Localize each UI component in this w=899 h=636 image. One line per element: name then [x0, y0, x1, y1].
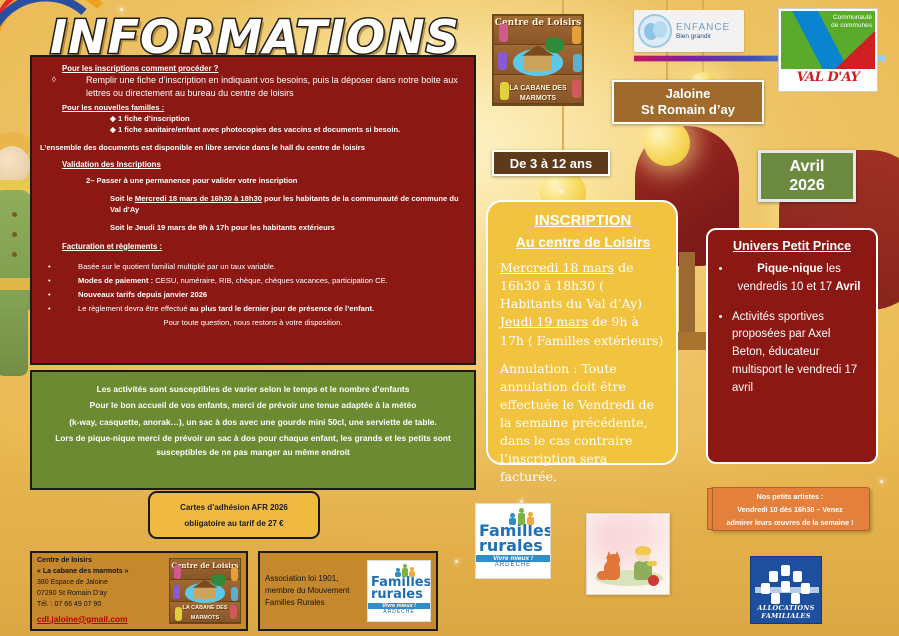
footer-contact-box: Centre de loisirs « La cabane des marmot…	[30, 551, 248, 631]
info-bullet-3: •Nouveaux tarifs depuis janvier 2026	[40, 289, 466, 300]
green-info-panel: Les activités sont susceptibles de varie…	[30, 370, 476, 490]
little-prince-illustration	[586, 513, 670, 595]
info-heading-1: Pour les inscriptions comment procéder ?	[62, 63, 466, 74]
allocations-familiales-logo: ALLOCATIONS FAMILIALES	[750, 556, 822, 624]
location-line-2: St Romain d’ay	[641, 102, 735, 118]
valday-line-2: de communes	[831, 22, 872, 30]
info-bullet-2-bold: Modes de paiement :	[78, 276, 153, 285]
info-bullet-1-text: Basée sur le quotient familial multiplié…	[78, 261, 276, 272]
footer-email-link[interactable]: cdl.jaloine@gmail.com	[37, 613, 169, 626]
adhesion-line-1: Cartes d’adhésion AFR 2026	[150, 503, 318, 512]
valday-line-1: Communauté	[831, 14, 872, 22]
green-line-3: (k-way, casquette, anorak…), un sac à do…	[48, 416, 458, 429]
info-step-2: 2– Passer à une permanence pour valider …	[86, 175, 466, 186]
info-bullet-4-bold: au plus tard le dernier jour de présence…	[190, 304, 374, 313]
footer-city: 07290 St Romain D’ay	[37, 589, 169, 600]
univers-petit-prince-panel: Univers Petit Prince Pique-nique les ven…	[706, 228, 878, 464]
adhesion-card-box: Cartes d’adhésion AFR 2026 obligatoire a…	[148, 491, 320, 539]
valday-logo: Communauté de communes VAL D'AY	[778, 8, 878, 92]
enfance-subtitle: Bien grandir	[676, 33, 730, 40]
info-libre-service: L’ensemble des documents est disponible …	[40, 142, 466, 153]
green-line-1: Les activités sont susceptibles de varie…	[48, 383, 458, 396]
month-line-2: 2026	[789, 176, 825, 195]
univers-item-1-bold: Pique-nique	[757, 263, 823, 275]
univers-item-1: Pique-nique les vendredis 10 et 17 Avril	[732, 261, 866, 297]
footer-assoc-line-2: membre du Mouvement	[265, 585, 367, 597]
caf-line-2: FAMILIALES	[757, 613, 814, 620]
age-range-chip: De 3 à 12 ans	[492, 150, 610, 176]
footer-phone: Tél. : 07 66 49 07 90	[37, 600, 169, 611]
info-heading-3: Validation des Inscriptions	[62, 159, 466, 170]
fr-large-word-2: rurales	[479, 539, 550, 554]
footer-address: 380 Espace de Jaloine	[37, 578, 169, 589]
info-bullet-2: • Modes de paiement : CESU, numéraire, R…	[40, 275, 466, 286]
inscription-date-2: Jeudi 19 mars de 9h à 17h ( Familles ext…	[500, 313, 666, 349]
info-heading-2: Pour les nouvelles familles :	[62, 102, 466, 113]
info-step-1: Remplir une fiche d’inscription en indiq…	[86, 74, 466, 100]
univers-item-2: Activités sportives proposées par Axel B…	[732, 309, 866, 398]
info-bullet-2-rest: CESU, numéraire, RIB, chèque, chèques va…	[153, 276, 388, 285]
location-line-1: Jaloine	[666, 86, 711, 102]
little-prince-figure-icon	[0, 128, 34, 380]
month-line-1: Avril	[790, 157, 825, 176]
info-bullet-4: • Le règlement devra être effectué au pl…	[40, 303, 466, 314]
info-doc-1: ◆ 1 fiche d’inscription	[110, 113, 466, 124]
enfance-balloon-icon	[638, 14, 672, 48]
fr-large-dept: ARDÈCHE	[476, 562, 550, 568]
green-line-2: Pour le bon accueil de vos enfants, merc…	[48, 399, 458, 412]
location-chip: Jaloine St Romain d’ay	[612, 80, 764, 124]
fr-logo-dept: ARDÈCHE	[368, 609, 430, 615]
info-soit-1: Soit le Mercredi 18 mars de 16h30 à 18h3…	[110, 193, 466, 215]
fr-logo-word-2: rurales	[371, 589, 430, 601]
info-soit-1-dates: Mercredi 18 mars de 16h30 à 18h30	[135, 194, 262, 203]
valday-name: VAL D'AY	[781, 70, 875, 85]
green-line-4: Lors de pique-nique merci de prévoir un …	[48, 432, 458, 459]
univers-item-1-bold2: Avril	[835, 281, 860, 293]
info-panel: Pour les inscriptions comment procéder ?…	[30, 55, 476, 365]
artistes-line-3: admirer leurs œuvres de la semaine !	[711, 518, 869, 527]
info-bullet-4-normal: Le règlement devra être effectué	[78, 304, 190, 313]
info-soit-2: Soit le Jeudi 19 mars de 9h à 17h pour l…	[110, 222, 466, 233]
info-doc-2: ◆ 1 fiche sanitaire/enfant avec photocop…	[110, 124, 466, 135]
footer-assoc-line-3: Familles Rurales	[265, 597, 367, 609]
inscription-subtitle: Au centre de Loisirs	[500, 234, 666, 250]
enfance-title: ENFANCE	[676, 22, 730, 33]
artistes-line-2: Vendredi 10 dès 16h30 – Venez	[711, 505, 869, 514]
familles-rurales-logo-small: Familles rurales Vivre mieux ! ARDÈCHE	[367, 560, 431, 622]
footer-association-box: Association loi 1901, membre du Mouvemen…	[258, 551, 438, 631]
adhesion-line-2: obligatoire au tarif de 27 €	[150, 519, 318, 528]
familles-rurales-logo-large: Familles rurales Vivre mieux ! ARDÈCHE	[475, 503, 551, 579]
info-bullet-1: •Basée sur le quotient familial multipli…	[40, 261, 466, 272]
info-closing: Pour toute question, nous restons à votr…	[40, 317, 466, 328]
footer-assoc-line-1: Association loi 1901,	[265, 573, 367, 585]
info-soit-1-prefix: Soit le	[110, 194, 135, 203]
univers-title: Univers Petit Prince	[718, 239, 866, 253]
artistes-line-1: Nos petits artistes :	[711, 492, 869, 501]
month-chip: Avril 2026	[758, 150, 856, 202]
footer-center-name: Centre de loisirs	[37, 556, 169, 567]
info-bullet-3-text: Nouveaux tarifs depuis janvier 2026	[78, 289, 207, 300]
inscription-date-1: Mercredi 18 mars de 16h30 à 18h30 ( Habi…	[500, 259, 666, 313]
inscription-title: INSCRIPTION	[500, 212, 666, 229]
enfance-logo: ENFANCE Bien grandir	[634, 10, 744, 52]
footer-center-alias: « La cabane des marmots »	[37, 567, 169, 578]
artistes-announcement-box: Nos petits artistes : Vendredi 10 dès 16…	[710, 487, 870, 531]
cabane-des-marmots-logo-header: Centre de Loisirs LA CABANE DES MARMOTS	[492, 14, 584, 106]
inscription-date-2-day: Jeudi 19 mars	[500, 314, 588, 329]
rose-icon	[648, 575, 659, 586]
lozenge-icon: ◊	[52, 74, 56, 85]
cabane-des-marmots-logo: Centre de Loisirs LA CABANE DES MARMOTS	[169, 558, 241, 624]
inscription-panel: INSCRIPTION Au centre de Loisirs Mercred…	[486, 200, 678, 465]
inscription-annulation: Annulation : Toute annulation doit être …	[500, 360, 666, 487]
fox-icon	[601, 554, 623, 580]
inscription-date-1-day: Mercredi 18 mars	[500, 260, 614, 275]
info-heading-4: Facturation et règlements :	[62, 241, 466, 252]
artistes-box-edge	[707, 488, 713, 530]
